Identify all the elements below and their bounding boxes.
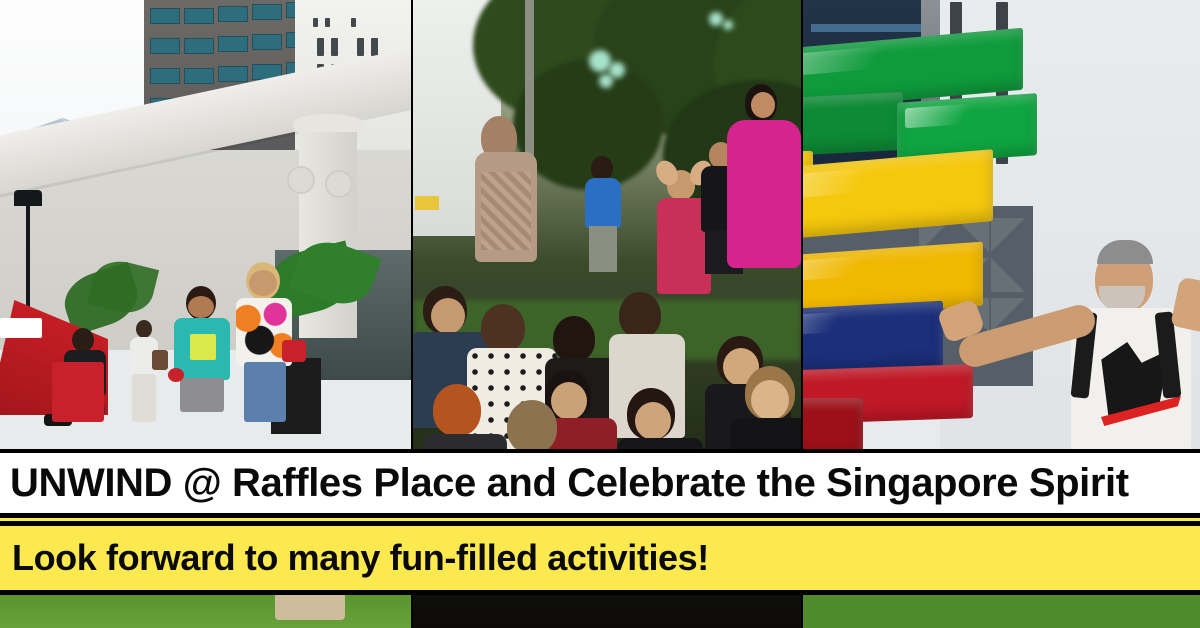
man-with-blocks <box>1053 246 1200 456</box>
rule-below-subtitle <box>0 590 1200 595</box>
yellow-sign <box>415 196 439 210</box>
subtitle-band: Look forward to many fun-filled activiti… <box>0 526 1200 590</box>
facade-roundel <box>287 166 315 194</box>
bag-on-lawn <box>275 592 345 620</box>
folding-chair <box>52 362 104 422</box>
title-band: UNWIND @ Raffles Place and Celebrate the… <box>0 453 1200 513</box>
page-title: UNWIND @ Raffles Place and Celebrate the… <box>0 461 1129 506</box>
poster: OUE ■■■ ■■■ <box>0 0 1200 628</box>
page-subtitle: Look forward to many fun-filled activiti… <box>0 537 709 579</box>
facade-roundel <box>325 170 353 198</box>
tent-logo <box>0 318 42 338</box>
block-green <box>803 92 903 158</box>
lamp-head <box>14 190 42 206</box>
